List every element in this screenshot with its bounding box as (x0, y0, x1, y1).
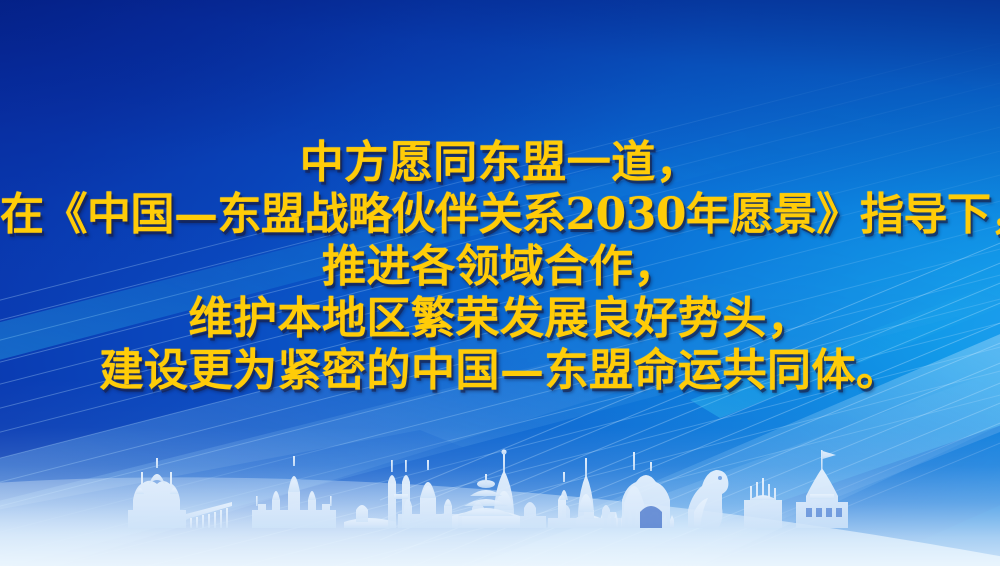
background-top-shade (0, 0, 1000, 566)
slogan-banner: 中方愿同东盟一道， 在《中国—东盟战略伙伴关系2030年愿景》指导下， 推进各领… (0, 0, 1000, 566)
